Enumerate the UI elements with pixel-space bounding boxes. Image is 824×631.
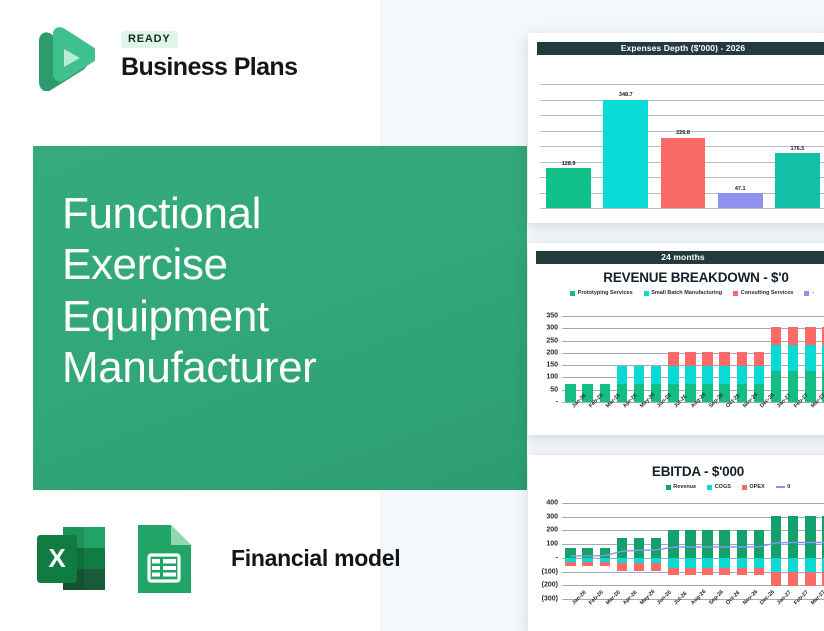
hero-line-2: Exercise: [62, 239, 502, 290]
y-axis-tick: 150: [536, 362, 558, 369]
stacked-bar-segment: [771, 345, 782, 371]
legend-label: COGS: [715, 484, 731, 490]
bar-value-label: 128.9: [562, 161, 576, 167]
ebitda-x-axis-labels: Jan-26Feb-26Mar-26Apr-26May-26Jun-26Jul-…: [536, 600, 824, 630]
bar-value-label: 348.7: [619, 92, 633, 98]
legend-label: -: [812, 290, 814, 296]
gridline: [562, 316, 824, 317]
gridline: [562, 341, 824, 342]
legend-color-swatch: [707, 485, 712, 490]
bar: [775, 153, 820, 208]
stacked-bar-segment: [565, 548, 576, 558]
gridline: [540, 100, 824, 101]
legend-label: OPEX: [749, 484, 764, 490]
stacked-bar-segment: [582, 548, 593, 558]
y-axis-tick: 300: [536, 513, 558, 520]
financial-model-label: Financial model: [231, 545, 400, 572]
stacked-bar-segment: [805, 572, 816, 586]
legend-label: Prototyping Services: [578, 290, 633, 296]
bar-value-label: 176.5: [791, 146, 805, 152]
stacked-bar-segment: [651, 538, 662, 558]
legend-label: 0: [787, 484, 790, 490]
stacked-bar-segment: [737, 568, 748, 576]
google-sheets-icon: [129, 521, 199, 597]
y-axis-tick: 250: [536, 337, 558, 344]
chart-card-expenses[interactable]: Expenses Depth ($'000) - 2026 128.9348.7…: [528, 33, 824, 223]
legend-line-swatch: [776, 486, 785, 488]
brand-wordmark: READY Business Plans: [121, 29, 297, 80]
stacked-bar-segment: [685, 530, 696, 558]
legend-item: 0: [776, 484, 791, 490]
svg-text:X: X: [48, 543, 66, 573]
stacked-bar-segment: [754, 530, 765, 558]
legend-label: Small Batch Manufacturing: [651, 290, 722, 296]
bar-value-label: 47.1: [735, 186, 746, 192]
stacked-bar-segment: [685, 352, 696, 366]
legend-label: Revenue: [673, 484, 696, 490]
stacked-bar-segment: [668, 568, 679, 576]
stacked-bar-segment: [702, 352, 713, 366]
stacked-bar-segment: [617, 563, 628, 571]
expenses-plot-area: 128.9348.7226.847.1176.5: [540, 66, 824, 212]
chart-card-revenue-breakdown[interactable]: 24 months REVENUE BREAKDOWN - $'0 Protot…: [528, 243, 824, 435]
stacked-bar-segment: [788, 558, 799, 572]
stacked-bar-segment: [805, 345, 816, 371]
stacked-bar-segment: [719, 352, 730, 366]
ebitda-chart-title: EBITDA - $'000: [558, 464, 824, 479]
brand-name: Business Plans: [121, 54, 297, 80]
stacked-bar-segment: [668, 558, 679, 568]
legend-color-swatch: [644, 291, 649, 296]
gridline: [562, 503, 824, 504]
legend-color-swatch: [804, 291, 809, 296]
legend-item: Small Batch Manufacturing: [644, 290, 722, 296]
stacked-bar-segment: [737, 530, 748, 558]
legend-item: Prototyping Services: [570, 290, 633, 296]
stacked-bar-segment: [788, 327, 799, 345]
stacked-bar-segment: [771, 572, 782, 586]
bar: [603, 100, 648, 208]
gridline: [562, 585, 824, 586]
stacked-bar-segment: [754, 558, 765, 568]
stacked-bar-segment: [702, 568, 713, 576]
stacked-bar-segment: [805, 327, 816, 345]
stacked-bar-segment: [634, 563, 645, 571]
y-axis-tick: 200: [536, 349, 558, 356]
play-triangle-logo-icon: [33, 27, 95, 91]
stacked-bar-segment: [600, 562, 611, 566]
y-axis-tick: 300: [536, 325, 558, 332]
gridline: [540, 84, 824, 85]
stacked-bar-segment: [771, 516, 782, 558]
stacked-bar-segment: [737, 366, 748, 383]
stacked-bar-segment: [771, 327, 782, 345]
gridline: [562, 328, 824, 329]
expenses-chart-title: Expenses Depth ($'000) - 2026: [537, 42, 824, 55]
bar-value-label: 226.8: [676, 130, 690, 136]
page-title: Functional Exercise Equipment Manufactur…: [62, 188, 502, 394]
stacked-bar-segment: [565, 562, 576, 566]
stacked-bar-segment: [651, 563, 662, 571]
brand-logo: READY Business Plans: [33, 27, 333, 97]
y-axis-tick: (200): [536, 582, 558, 589]
stacked-bar-segment: [702, 558, 713, 568]
bar: [661, 138, 706, 208]
legend-color-swatch: [666, 485, 671, 490]
stacked-bar-segment: [617, 366, 628, 383]
stacked-bar-segment: [668, 530, 679, 558]
y-axis-tick: (100): [536, 568, 558, 575]
y-axis-tick: 100: [536, 541, 558, 548]
gridline: [540, 115, 824, 116]
y-axis-tick: 50: [536, 386, 558, 393]
stacked-bar-segment: [788, 516, 799, 558]
stacked-bar-segment: [737, 558, 748, 568]
bar: [546, 168, 591, 208]
legend-item: COGS: [707, 484, 731, 490]
legend-item: Consulting Services: [733, 290, 793, 296]
legend-label: Consulting Services: [741, 290, 794, 296]
stacked-bar-segment: [719, 530, 730, 558]
stacked-bar-segment: [754, 568, 765, 576]
stacked-bar-segment: [719, 568, 730, 576]
legend-color-swatch: [733, 291, 738, 296]
ready-badge: READY: [121, 31, 178, 48]
stacked-bar-segment: [719, 558, 730, 568]
legend-item: -: [804, 290, 813, 296]
stacked-bar-segment: [634, 538, 645, 558]
y-axis-tick: 400: [536, 500, 558, 507]
microsoft-excel-icon: X: [33, 521, 109, 597]
y-axis-tick: -: [536, 554, 558, 561]
legend-item: Revenue: [666, 484, 696, 490]
hero-line-4: Manufacturer: [62, 342, 502, 393]
bar: [718, 193, 763, 208]
stacked-bar-segment: [651, 366, 662, 383]
stacked-bar-segment: [788, 572, 799, 586]
revenue-chart-title: REVENUE BREAKDOWN - $'0: [554, 270, 824, 285]
legend-color-swatch: [742, 485, 747, 490]
stacked-bar-segment: [737, 352, 748, 366]
stacked-bar-segment: [685, 568, 696, 576]
y-axis-tick: 350: [536, 313, 558, 320]
stacked-bar-segment: [685, 366, 696, 383]
stacked-bar-segment: [754, 352, 765, 366]
stacked-bar-segment: [702, 366, 713, 383]
stacked-bar-segment: [668, 366, 679, 383]
revenue-months-header: 24 months: [536, 251, 824, 264]
chart-card-ebitda[interactable]: EBITDA - $'000 RevenueCOGSOPEX0 40030020…: [528, 455, 824, 631]
stacked-bar-segment: [634, 366, 645, 383]
ebitda-legend: RevenueCOGSOPEX0: [528, 484, 824, 490]
legend-color-swatch: [570, 291, 575, 296]
stacked-bar-segment: [788, 345, 799, 371]
stacked-bar-segment: [771, 558, 782, 572]
stacked-bar-segment: [685, 558, 696, 568]
stacked-bar-segment: [805, 516, 816, 558]
revenue-legend: Prototyping ServicesSmall Batch Manufact…: [528, 290, 824, 296]
stacked-bar-segment: [582, 562, 593, 566]
gridline: [540, 208, 824, 209]
stacked-bar-segment: [754, 366, 765, 383]
hero-line-3: Equipment: [62, 291, 502, 342]
hero-line-1: Functional: [62, 188, 502, 239]
revenue-x-axis-labels: Jan-26Feb-26Mar-26Apr-26May-26Jun-26Jul-…: [536, 403, 824, 433]
ebitda-plot-area: 400300200100-(100)(200)(300): [536, 503, 824, 599]
stacked-bar-segment: [702, 530, 713, 558]
legend-item: OPEX: [742, 484, 765, 490]
y-axis-tick: 200: [536, 527, 558, 534]
revenue-plot-area: 35030025020015010050-: [536, 316, 824, 402]
y-axis-tick: 100: [536, 374, 558, 381]
stacked-bar-segment: [668, 352, 679, 366]
stacked-bar-segment: [805, 558, 816, 572]
stacked-bar-segment: [719, 366, 730, 383]
hero-panel: Functional Exercise Equipment Manufactur…: [33, 146, 527, 490]
stacked-bar-segment: [600, 548, 611, 558]
gridline: [562, 517, 824, 518]
stacked-bar-segment: [617, 538, 628, 558]
stacked-bar-segment: [565, 384, 576, 402]
